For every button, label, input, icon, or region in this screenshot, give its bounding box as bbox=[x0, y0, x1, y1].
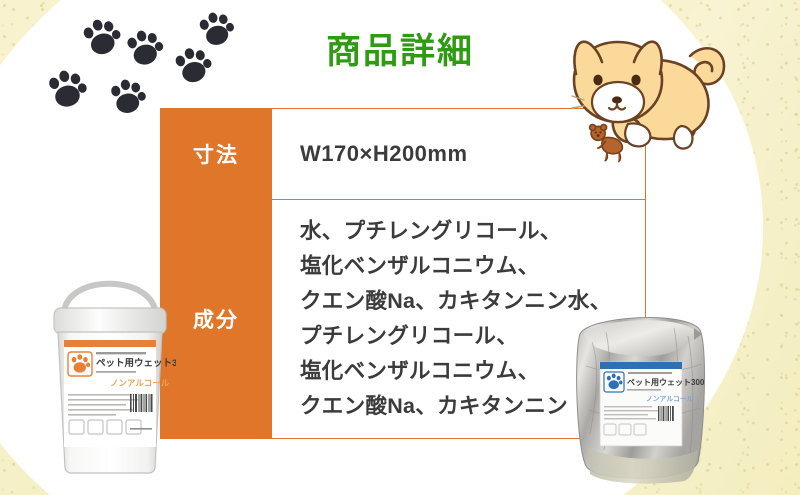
spec-label-ingredients: 成分 bbox=[161, 200, 272, 439]
spec-label-dimensions: 寸法 bbox=[161, 109, 272, 200]
product-photo-bucket: ペット用ウェット300 ノンアルコール bbox=[44, 268, 176, 483]
bucket-brand-text: ペット用ウェット300 bbox=[96, 358, 176, 369]
product-detail-banner: 商品詳細 bbox=[0, 0, 800, 495]
bucket-sub-label: ノンアルコール bbox=[110, 378, 170, 388]
ingredient-line: 塩化ベンザルコニウム、 bbox=[300, 249, 645, 284]
pouch-sub-label: ノンアルコール bbox=[646, 395, 694, 403]
pouch-brand-text: ペット用ウェット300 bbox=[627, 378, 705, 387]
paw-print-icon bbox=[110, 77, 149, 116]
ingredient-line: 水、プチレングリコール、 bbox=[300, 214, 645, 249]
product-photo-refill-pouch: ペット用ウェット300 ノンアルコール bbox=[566, 306, 716, 486]
shiba-inu-icon bbox=[540, 22, 740, 172]
dog-eye-right bbox=[631, 75, 640, 86]
dog-eye-left bbox=[593, 75, 602, 86]
dog-nose bbox=[612, 96, 622, 103]
